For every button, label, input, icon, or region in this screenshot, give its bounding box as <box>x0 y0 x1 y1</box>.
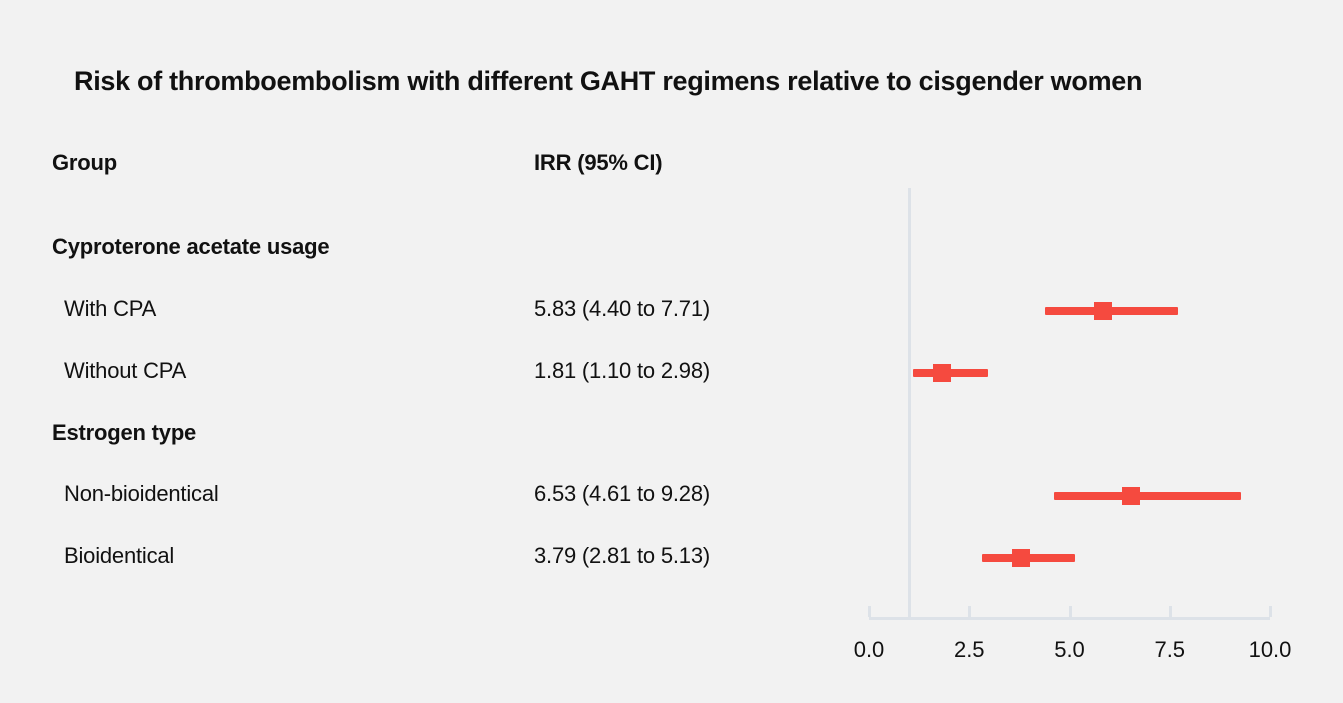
table-row-estimate: 5.83 (4.40 to 7.71) <box>534 296 710 322</box>
x-axis-tick <box>1169 606 1172 617</box>
plot-area: 0.02.55.07.510.0 <box>0 0 1343 703</box>
table-row-estimate: 6.53 (4.61 to 9.28) <box>534 481 710 507</box>
table-row-label: Non-bioidentical <box>64 481 219 507</box>
title-soft: relative to cisgender women <box>780 66 1142 96</box>
table-row-label: Without CPA <box>64 358 186 384</box>
confidence-interval-bar <box>982 554 1075 562</box>
subgroup-header: Cyproterone acetate usage <box>52 234 329 260</box>
page-title: Risk of thromboembolism with different G… <box>74 64 1142 98</box>
confidence-interval-bar <box>1054 492 1241 500</box>
x-axis-tick <box>1269 606 1272 617</box>
point-estimate-marker <box>933 364 951 382</box>
forest-plot-figure: Risk of thromboembolism with different G… <box>0 0 1343 703</box>
table-row-label: With CPA <box>64 296 156 322</box>
point-estimate-marker <box>1012 549 1030 567</box>
x-axis-tick-label: 2.5 <box>954 637 985 663</box>
table-row-estimate: 1.81 (1.10 to 2.98) <box>534 358 710 384</box>
reference-line <box>908 188 911 617</box>
table-row-label: Bioidentical <box>64 543 174 569</box>
x-axis-tick-label: 0.0 <box>854 637 885 663</box>
x-axis-tick-label: 7.5 <box>1154 637 1185 663</box>
point-estimate-marker <box>1094 302 1112 320</box>
x-axis-tick <box>868 606 871 617</box>
x-axis-tick-label: 10.0 <box>1249 637 1292 663</box>
column-header-group: Group <box>52 150 117 176</box>
x-axis-line <box>869 617 1270 620</box>
x-axis-tick-label: 5.0 <box>1054 637 1085 663</box>
subgroup-header: Estrogen type <box>52 420 196 446</box>
title-strong: Risk of thromboembolism with different G… <box>74 66 780 96</box>
confidence-interval-bar <box>913 369 988 377</box>
confidence-interval-bar <box>1045 307 1178 315</box>
x-axis-tick <box>1069 606 1072 617</box>
table-row-estimate: 3.79 (2.81 to 5.13) <box>534 543 710 569</box>
point-estimate-marker <box>1122 487 1140 505</box>
x-axis-tick <box>968 606 971 617</box>
column-header-estimate: IRR (95% CI) <box>534 150 662 176</box>
